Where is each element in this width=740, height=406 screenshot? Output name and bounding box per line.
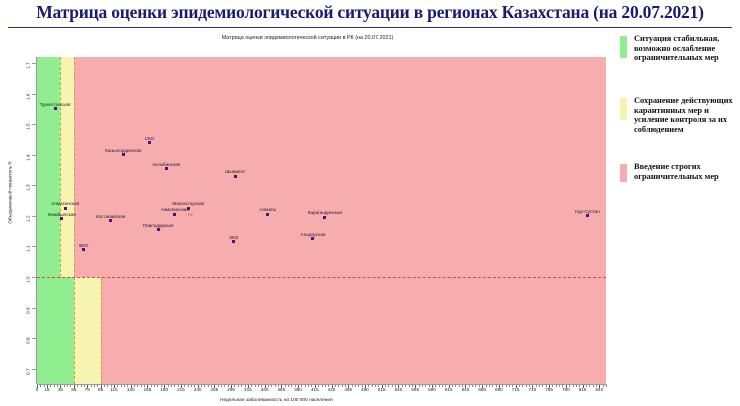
x-tick-minor [188, 385, 189, 387]
data-point[interactable] [54, 107, 57, 110]
zone-above-2 [74, 57, 606, 277]
x-tick-minor [261, 385, 262, 387]
x-tick-minor [255, 385, 256, 387]
x-tick-minor [144, 385, 145, 387]
x-tick-minor [141, 385, 142, 387]
x-tick-minor [526, 385, 527, 387]
y-tick-mark [32, 155, 36, 156]
data-point-label: Акмолинская [161, 207, 189, 212]
x-tick-minor [204, 385, 205, 387]
x-tick-minor [335, 385, 336, 387]
x-tick-minor [301, 385, 302, 387]
x-tick-minor [338, 385, 339, 387]
x-tick-minor [385, 385, 386, 387]
y-axis-line [36, 57, 37, 384]
x-tick-minor [134, 385, 135, 387]
data-point[interactable] [234, 175, 237, 178]
x-tick-minor [459, 385, 460, 387]
x-tick-minor [586, 385, 587, 387]
y-tick-label: 1.6 [26, 93, 31, 113]
x-tick-minor [104, 385, 105, 387]
x-tick-minor [522, 385, 523, 387]
x-tick-minor [502, 385, 503, 387]
x-tick-minor [395, 385, 396, 387]
x-tick-minor [191, 385, 192, 387]
x-tick-minor [40, 385, 41, 387]
x-tick-minor [542, 385, 543, 387]
x-tick-minor [412, 385, 413, 387]
data-point-label: Алматинская [51, 201, 79, 206]
x-tick-minor [536, 385, 537, 387]
x-tick-minor [556, 385, 557, 387]
x-tick-minor [107, 385, 108, 387]
y-tick-label: 1.7 [26, 63, 31, 83]
data-point-label: Атырауская [300, 232, 325, 237]
x-tick-minor [221, 385, 222, 387]
y-tick-label: 0.9 [26, 307, 31, 327]
x-tick-minor [378, 385, 379, 387]
x-tick-minor [475, 385, 476, 387]
x-tick-minor [178, 385, 179, 387]
reference-line-r1 [37, 277, 606, 278]
x-tick-minor [603, 385, 604, 387]
x-tick-minor [455, 385, 456, 387]
x-tick-minor [392, 385, 393, 387]
x-tick-minor [157, 385, 158, 387]
data-point-label: ЗКО [229, 235, 238, 240]
x-tick-minor [311, 385, 312, 387]
x-tick-minor [375, 385, 376, 387]
y-tick-label: 1.4 [26, 154, 31, 174]
x-tick-minor [201, 385, 202, 387]
y-tick-label: 1.1 [26, 246, 31, 266]
y-tick-mark [32, 124, 36, 125]
data-point[interactable] [232, 240, 235, 243]
x-tick-minor [285, 385, 286, 387]
data-point[interactable] [266, 213, 269, 216]
x-tick-minor [445, 385, 446, 387]
x-tick-minor [91, 385, 92, 387]
x-tick-minor [168, 385, 169, 387]
x-tick-minor [268, 385, 269, 387]
x-tick-minor [589, 385, 590, 387]
x-tick-minor [462, 385, 463, 387]
data-point[interactable] [323, 216, 326, 219]
x-tick-minor [328, 385, 329, 387]
x-tick-minor [362, 385, 363, 387]
x-tick-minor [506, 385, 507, 387]
x-tick-minor [81, 385, 82, 387]
zone-below-1 [74, 277, 101, 384]
data-point-label: Актюбинская [152, 162, 180, 167]
x-tick-minor [184, 385, 185, 387]
x-tick-minor [228, 385, 229, 387]
data-point[interactable] [122, 153, 125, 156]
x-tick-minor [245, 385, 246, 387]
x-tick-minor [67, 385, 68, 387]
x-tick-minor [77, 385, 78, 387]
data-point-label: Мангистауская [172, 201, 204, 206]
x-tick-minor [275, 385, 276, 387]
x-tick-minor [325, 385, 326, 387]
x-tick-minor [435, 385, 436, 387]
data-point[interactable] [165, 167, 168, 170]
data-point-label: Нур-Султан [575, 209, 600, 214]
x-tick-minor [84, 385, 85, 387]
zone-below-2 [101, 277, 606, 384]
x-tick-minor [137, 385, 138, 387]
x-tick-minor [295, 385, 296, 387]
x-tick-minor [606, 385, 607, 387]
annotation-rk: РК [188, 212, 193, 217]
legend: Ситуация стабильная, возможно ослабление… [620, 36, 738, 226]
x-tick-minor [291, 385, 292, 387]
x-tick-minor [318, 385, 319, 387]
data-point[interactable] [109, 219, 112, 222]
y-tick-mark [32, 185, 36, 186]
x-tick-minor [278, 385, 279, 387]
legend-yellow-label: Сохранение действующих карантинных мер и… [634, 96, 738, 134]
y-tick-label: 1.0 [26, 277, 31, 297]
data-point-label: СКО [145, 136, 155, 141]
x-tick-minor [288, 385, 289, 387]
y-tick-mark [32, 338, 36, 339]
y-tick-label: 1.2 [26, 215, 31, 235]
x-tick-minor [352, 385, 353, 387]
title-divider [8, 27, 732, 28]
x-axis-title: Недельная заболеваемость на 100 000 насе… [220, 398, 333, 403]
y-tick-label: 0.7 [26, 368, 31, 388]
x-tick-minor [305, 385, 306, 387]
x-tick-minor [117, 385, 118, 387]
y-tick-mark [32, 277, 36, 278]
chart-subtitle: Матрица оценки эпидемиологической ситуац… [0, 35, 615, 41]
data-point-label: Карагандинская [308, 210, 342, 215]
x-tick-minor [546, 385, 547, 387]
x-tick-minor [57, 385, 58, 387]
x-tick-minor [251, 385, 252, 387]
page-title: Матрица оценки эпидемиологической ситуац… [0, 2, 740, 23]
zone-above-1 [60, 57, 73, 277]
x-tick-minor [368, 385, 369, 387]
x-tick-minor [208, 385, 209, 387]
x-tick-minor [576, 385, 577, 387]
data-point[interactable] [173, 213, 176, 216]
x-tick-minor [342, 385, 343, 387]
x-tick-minor [94, 385, 95, 387]
x-tick-minor [97, 385, 98, 387]
x-tick-minor [596, 385, 597, 387]
y-tick-mark [32, 369, 36, 370]
data-point[interactable] [60, 217, 63, 220]
y-tick-mark [32, 63, 36, 64]
zone-above-0 [37, 57, 60, 277]
zone-boundary-2 [74, 277, 75, 384]
data-point[interactable] [311, 237, 314, 240]
x-tick-minor [489, 385, 490, 387]
x-tick-minor [479, 385, 480, 387]
zone-boundary-3 [101, 277, 102, 384]
y-tick-mark [32, 308, 36, 309]
legend-green-label: Ситуация стабильная, возможно ослабление… [634, 34, 738, 63]
x-tick-minor [405, 385, 406, 387]
x-tick-minor [472, 385, 473, 387]
x-tick-minor [539, 385, 540, 387]
data-point[interactable] [82, 248, 85, 251]
x-tick-minor [442, 385, 443, 387]
y-tick-label: 1.3 [26, 185, 31, 205]
x-tick-minor [439, 385, 440, 387]
x-tick-minor [161, 385, 162, 387]
data-point-label: ВКО [79, 243, 88, 248]
legend-green-swatch [620, 36, 627, 58]
zone-below-0 [37, 277, 74, 384]
x-tick-minor [496, 385, 497, 387]
x-tick-minor [529, 385, 530, 387]
x-tick-minor [211, 385, 212, 387]
x-tick-minor [429, 385, 430, 387]
x-tick-minor [127, 385, 128, 387]
data-point-label: Туркестанская [40, 102, 71, 107]
y-tick-mark [32, 246, 36, 247]
data-point[interactable] [157, 228, 160, 231]
y-tick-mark [32, 216, 36, 217]
legend-red-swatch [620, 164, 627, 182]
y-tick-mark [32, 94, 36, 95]
x-tick-minor [452, 385, 453, 387]
x-tick-minor [151, 385, 152, 387]
data-point[interactable] [64, 207, 67, 210]
y-tick-label: 0.8 [26, 338, 31, 358]
x-tick-minor [552, 385, 553, 387]
x-tick-minor [238, 385, 239, 387]
x-tick-minor [44, 385, 45, 387]
x-tick-minor [573, 385, 574, 387]
x-tick-minor [64, 385, 65, 387]
x-tick-minor [388, 385, 389, 387]
x-tick-minor [355, 385, 356, 387]
data-point-label: Павлодарская [143, 223, 174, 228]
x-tick-minor [519, 385, 520, 387]
legend-red-label: Введение строгих ограничительных мер [634, 162, 738, 181]
x-tick-minor [425, 385, 426, 387]
x-tick-minor [492, 385, 493, 387]
data-point-label: Шымкент [225, 169, 245, 174]
x-tick-minor [512, 385, 513, 387]
data-point[interactable] [148, 141, 151, 144]
x-tick-minor [124, 385, 125, 387]
x-tick-minor [258, 385, 259, 387]
x-tick-minor [409, 385, 410, 387]
data-point-label: Алматы [260, 207, 277, 212]
x-tick-minor [241, 385, 242, 387]
legend-yellow-swatch [620, 98, 627, 120]
x-tick-minor [121, 385, 122, 387]
x-tick-minor [559, 385, 560, 387]
x-tick-minor [372, 385, 373, 387]
x-tick-minor [308, 385, 309, 387]
x-tick-minor [562, 385, 563, 387]
x-tick-minor [486, 385, 487, 387]
x-tick-minor [50, 385, 51, 387]
y-tick-label: 1.5 [26, 124, 31, 144]
x-tick-minor [54, 385, 55, 387]
x-tick-minor [194, 385, 195, 387]
y-axis-title: Объединенный показатель R [8, 153, 13, 233]
x-tick-minor [593, 385, 594, 387]
x-tick-minor [154, 385, 155, 387]
x-tick-minor [422, 385, 423, 387]
x-tick-minor [174, 385, 175, 387]
x-tick-minor [402, 385, 403, 387]
x-tick-minor [218, 385, 219, 387]
x-tick-minor [569, 385, 570, 387]
x-tick-minor [469, 385, 470, 387]
data-point-label: Жамбылская [48, 212, 76, 217]
x-tick-label: 840 [588, 387, 610, 392]
chart-figure: Матрица оценки эпидемиологической ситуац… [0, 30, 615, 406]
data-point-label: Костанайская [96, 214, 125, 219]
plot-area: ТуркестанскаяСКОКызылординскаяАктюбинска… [37, 57, 606, 384]
x-tick-minor [579, 385, 580, 387]
x-tick-minor [171, 385, 172, 387]
zone-boundary-1 [74, 57, 75, 277]
x-tick-minor [509, 385, 510, 387]
x-tick-minor [358, 385, 359, 387]
x-tick-minor [322, 385, 323, 387]
zone-boundary-0 [60, 57, 61, 277]
data-point-label: Кызылординская [105, 148, 141, 153]
x-tick-minor [111, 385, 112, 387]
x-tick-minor [419, 385, 420, 387]
x-tick-minor [271, 385, 272, 387]
x-tick-minor [234, 385, 235, 387]
data-point[interactable] [586, 214, 589, 217]
x-tick-minor [224, 385, 225, 387]
x-tick-minor [70, 385, 71, 387]
x-tick-minor [345, 385, 346, 387]
